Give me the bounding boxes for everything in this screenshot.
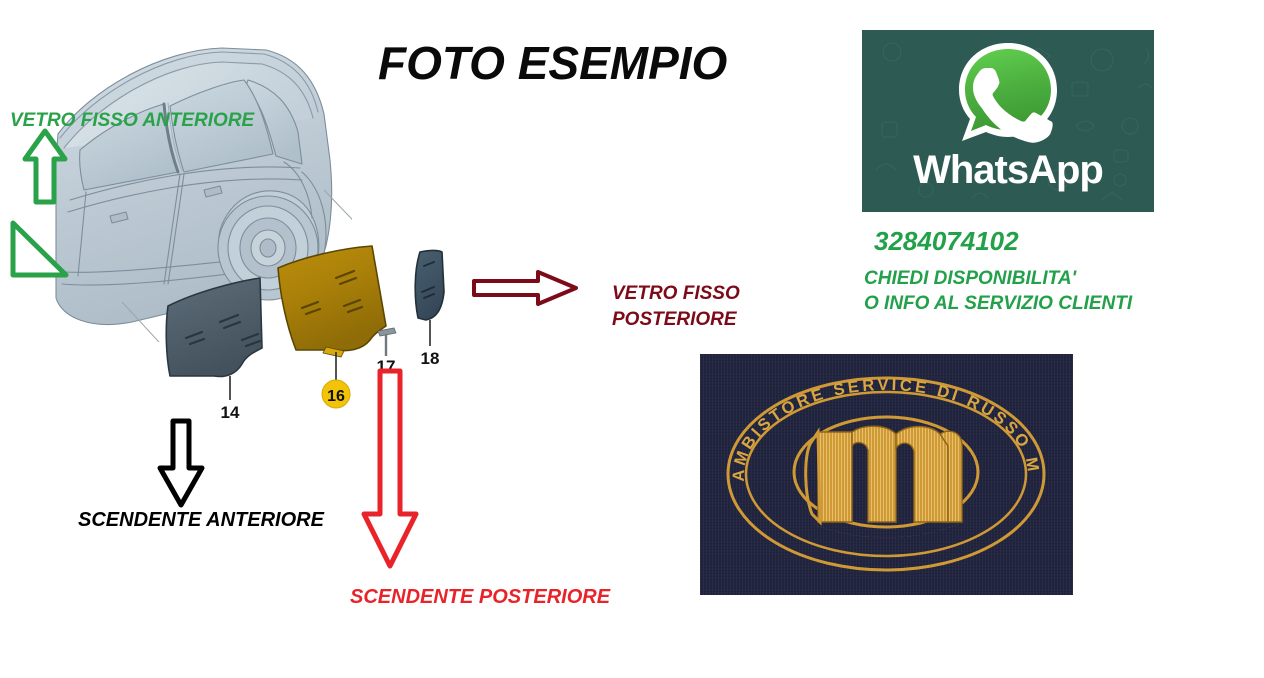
glass-parts-diagram: 14 17 18 16 xyxy=(130,230,490,430)
callout-18: 18 xyxy=(421,349,440,368)
callout-16: 16 xyxy=(327,388,345,405)
label-rear-drop-glass: SCENDENTE POSTERIORE xyxy=(350,586,610,609)
whatsapp-banner: WhatsApp xyxy=(862,30,1154,212)
black-down-arrow xyxy=(156,418,206,508)
whatsapp-wordmark: WhatsApp xyxy=(862,148,1154,193)
callout-16-badge: 16 xyxy=(322,380,350,408)
contact-line-2: O INFO AL SERVIZIO CLIENTI xyxy=(864,291,1132,316)
green-up-arrow xyxy=(22,128,68,206)
part-18-rear-fixed-glass xyxy=(415,251,444,321)
green-triangle xyxy=(8,218,70,280)
label-front-drop-glass: SCENDENTE ANTERIORE xyxy=(78,509,324,532)
part-16-rear-drop-glass xyxy=(278,246,386,357)
red-down-arrow xyxy=(360,368,420,570)
contact-message: CHIEDI DISPONIBILITA' O INFO AL SERVIZIO… xyxy=(864,266,1132,317)
page-title: FOTO ESEMPIO xyxy=(378,36,727,90)
whatsapp-logo xyxy=(954,38,1062,146)
part-14-front-drop-glass xyxy=(166,278,262,377)
label-rear-fixed-glass-line1: VETRO FISSO xyxy=(612,281,740,307)
shop-logo-monogram xyxy=(806,426,962,522)
label-rear-fixed-glass: VETRO FISSO POSTERIORE xyxy=(612,281,740,332)
shop-logo: MRICAMBISTORE SERVICE DI RUSSO MARCO ...… xyxy=(700,354,1073,595)
label-rear-fixed-glass-line2: POSTERIORE xyxy=(612,307,740,333)
phone-number[interactable]: 3284074102 xyxy=(874,226,1019,257)
dark-red-right-arrow xyxy=(470,268,580,308)
shop-logo-graphic: MRICAMBISTORE SERVICE DI RUSSO MARCO ...… xyxy=(700,354,1073,595)
whatsapp-logo-icon xyxy=(954,38,1062,146)
callout-14: 14 xyxy=(221,403,240,422)
svg-text:........ ......... ... .......: ........ ......... ... ......... .. ....… xyxy=(812,520,960,539)
contact-line-1: CHIEDI DISPONIBILITA' xyxy=(864,266,1132,291)
